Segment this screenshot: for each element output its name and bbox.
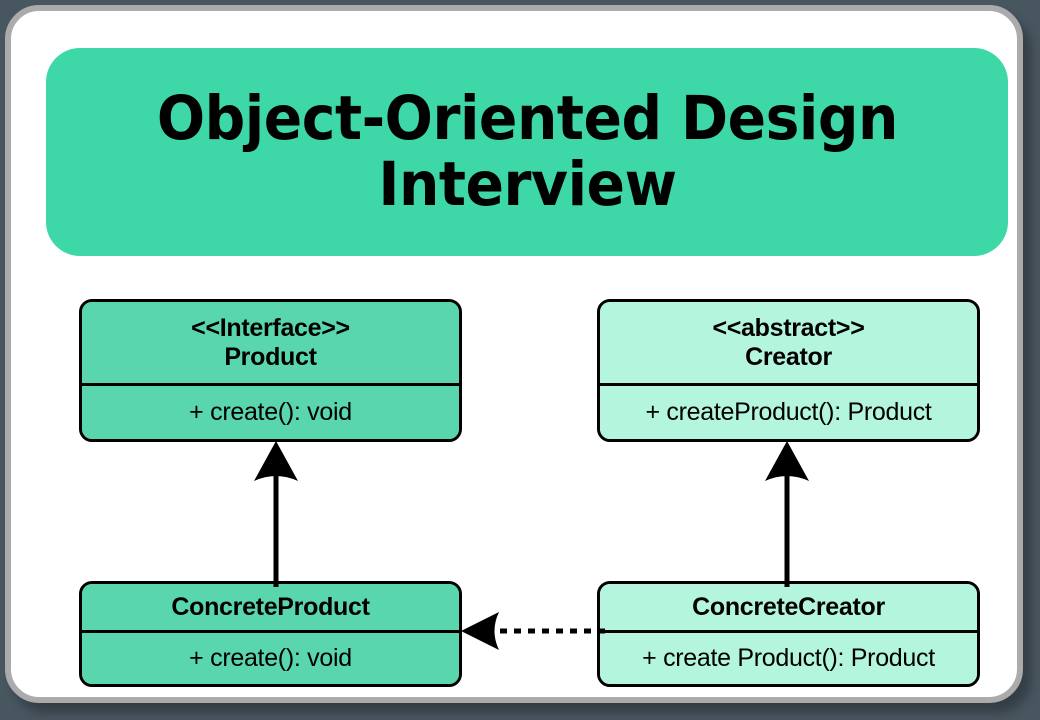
uml-class-product-name: Product [224, 343, 316, 371]
generalization-arrow-concrete-creator-to-creator [759, 439, 829, 587]
uml-class-product-header: <<Interface>> Product [82, 302, 459, 383]
uml-class-concrete-creator-method: + create Product(): Product [600, 633, 977, 684]
uml-class-creator-stereotype: <<abstract>> [712, 314, 864, 342]
uml-class-concrete-product-method: + create(): void [82, 633, 459, 684]
uml-class-creator-method: + createProduct(): Product [600, 386, 977, 439]
uml-class-creator-name: Creator [745, 343, 832, 371]
uml-class-concrete-creator-name: ConcreteCreator [600, 584, 977, 630]
uml-class-creator-header: <<abstract>> Creator [600, 302, 977, 383]
uml-class-creator[interactable]: <<abstract>> Creator + createProduct(): … [597, 299, 980, 442]
uml-class-concrete-product-name: ConcreteProduct [82, 584, 459, 630]
page-title-line2: Interview [378, 149, 676, 220]
uml-class-product[interactable]: <<Interface>> Product + create(): void [79, 299, 462, 442]
uml-class-product-stereotype: <<Interface>> [191, 314, 350, 342]
title-banner: Object-Oriented Design Interview [46, 48, 1008, 256]
uml-class-concrete-product[interactable]: ConcreteProduct + create(): void [79, 581, 462, 687]
dependency-arrow-concrete-creator-to-concrete-product [459, 611, 605, 651]
page-title: Object-Oriented Design Interview [134, 86, 920, 218]
uml-class-concrete-creator[interactable]: ConcreteCreator + create Product(): Prod… [597, 581, 980, 687]
page-card: Object-Oriented Design Interview <<Inter… [5, 5, 1023, 703]
page-title-line1: Object-Oriented Design [156, 83, 897, 154]
realization-arrow-concrete-product-to-product [241, 439, 311, 587]
uml-class-product-method: + create(): void [82, 386, 459, 439]
